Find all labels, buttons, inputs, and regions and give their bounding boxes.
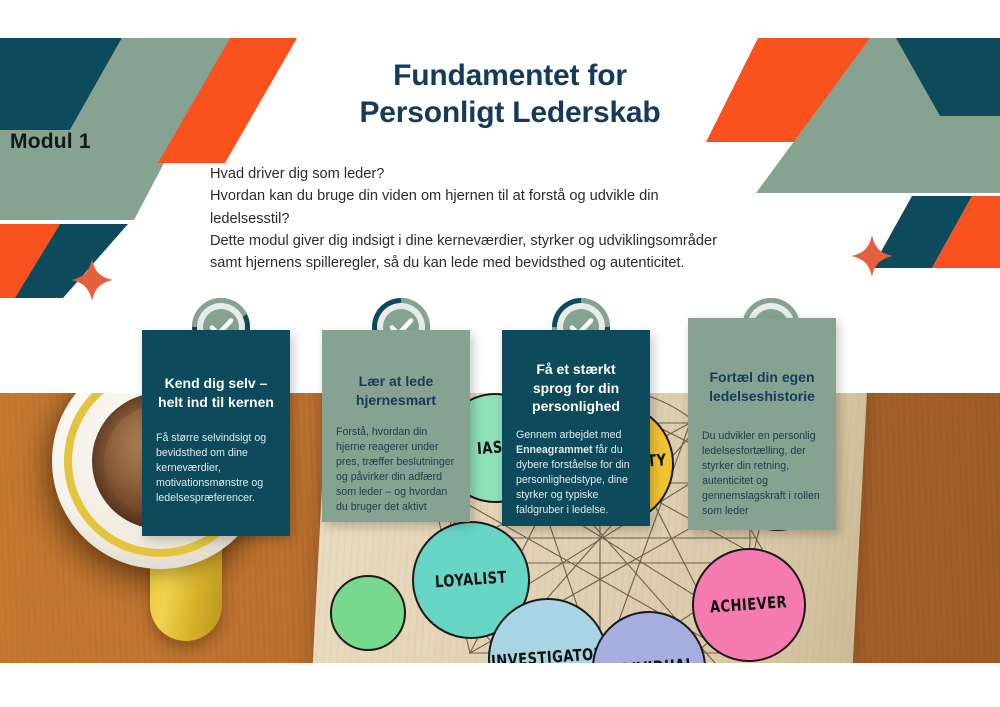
intro-line: Dette modul giver dig indsigt i dine ker…: [210, 230, 840, 252]
card-heading-line-1: Få et stærkt: [516, 360, 636, 379]
enneagram-bubble-label: INVESTIGATOR: [491, 646, 605, 663]
feature-card-kend-dig-selv[interactable]: Kend dig selv – helt ind til kernen Få s…: [142, 330, 290, 536]
card-body-pre: Gennem arbejdet med: [516, 429, 621, 441]
module-badge: Modul 1: [10, 130, 91, 154]
feature-card-staerkt-sprog[interactable]: Få et stærkt sprog for din personlighed …: [502, 330, 650, 526]
slide-canvas: IAST PERSONALITY LOYALIST INVESTIGATOR I…: [0, 0, 1000, 707]
card-heading: Fortæl din egen ledelseshistorie: [702, 368, 822, 405]
card-body: Gennem arbejdet med Enneagrammet får du …: [516, 428, 636, 518]
enneagram-bubble: [330, 575, 406, 651]
intro-line: Hvad driver dig som leder?: [210, 163, 840, 185]
card-body: Du udvikler en personlig ledelsesfortæll…: [702, 429, 822, 519]
card-heading-line-2: sprog for din: [516, 379, 636, 398]
card-heading-line-3: personlighed: [516, 397, 636, 416]
feature-card-ledelseshistorie[interactable]: Fortæl din egen ledelseshistorie Du udvi…: [688, 318, 836, 530]
intro-paragraph: Hvad driver dig som leder? Hvordan kan d…: [210, 163, 840, 275]
card-heading-line-1: Fortæl din egen: [702, 368, 822, 387]
sparkle-icon-right: [850, 234, 894, 278]
card-heading-line-1: Kend dig selv –: [156, 374, 276, 393]
enneagram-bubble: ACHIEVER: [692, 548, 806, 662]
card-body: Få større selvindsigt og bevidsthed om d…: [156, 431, 276, 506]
page-title-line-2: Personligt Lederskab: [230, 95, 790, 132]
intro-line: ledelsesstil?: [210, 208, 840, 230]
card-heading-line-2: ledelseshistorie: [702, 387, 822, 406]
card-heading-line-1: Lær at lede: [336, 372, 456, 391]
card-heading: Få et stærkt sprog for din personlighed: [516, 360, 636, 416]
intro-line: Hvordan kan du bruge din viden om hjerne…: [210, 185, 840, 207]
sparkle-icon-left: [70, 258, 114, 302]
page-title-line-1: Fundamentet for: [230, 58, 790, 95]
card-heading-line-2: helt ind til kernen: [156, 393, 276, 412]
enneagram-bubble-label: LOYALIST: [435, 569, 508, 590]
card-heading: Kend dig selv – helt ind til kernen: [156, 374, 276, 411]
page-title: Fundamentet for Personligt Lederskab: [230, 58, 790, 131]
module-badge-label: Modul 1: [10, 130, 91, 153]
bottom-white-margin: [0, 663, 1000, 707]
card-heading-line-2: hjernesmart: [336, 391, 456, 410]
feature-card-laer-at-lede-hjernesmart[interactable]: Lær at lede hjernesmart Forstå, hvordan …: [322, 330, 470, 522]
card-body: Forstå, hvordan din hjerne reagerer unde…: [336, 425, 456, 515]
enneagram-bubble-label: ACHIEVER: [710, 594, 788, 616]
card-heading: Lær at lede hjernesmart: [336, 372, 456, 409]
card-body-emphasis: Enneagrammet: [516, 444, 593, 456]
intro-line: samt hjernens spilleregler, så du kan le…: [210, 252, 840, 274]
